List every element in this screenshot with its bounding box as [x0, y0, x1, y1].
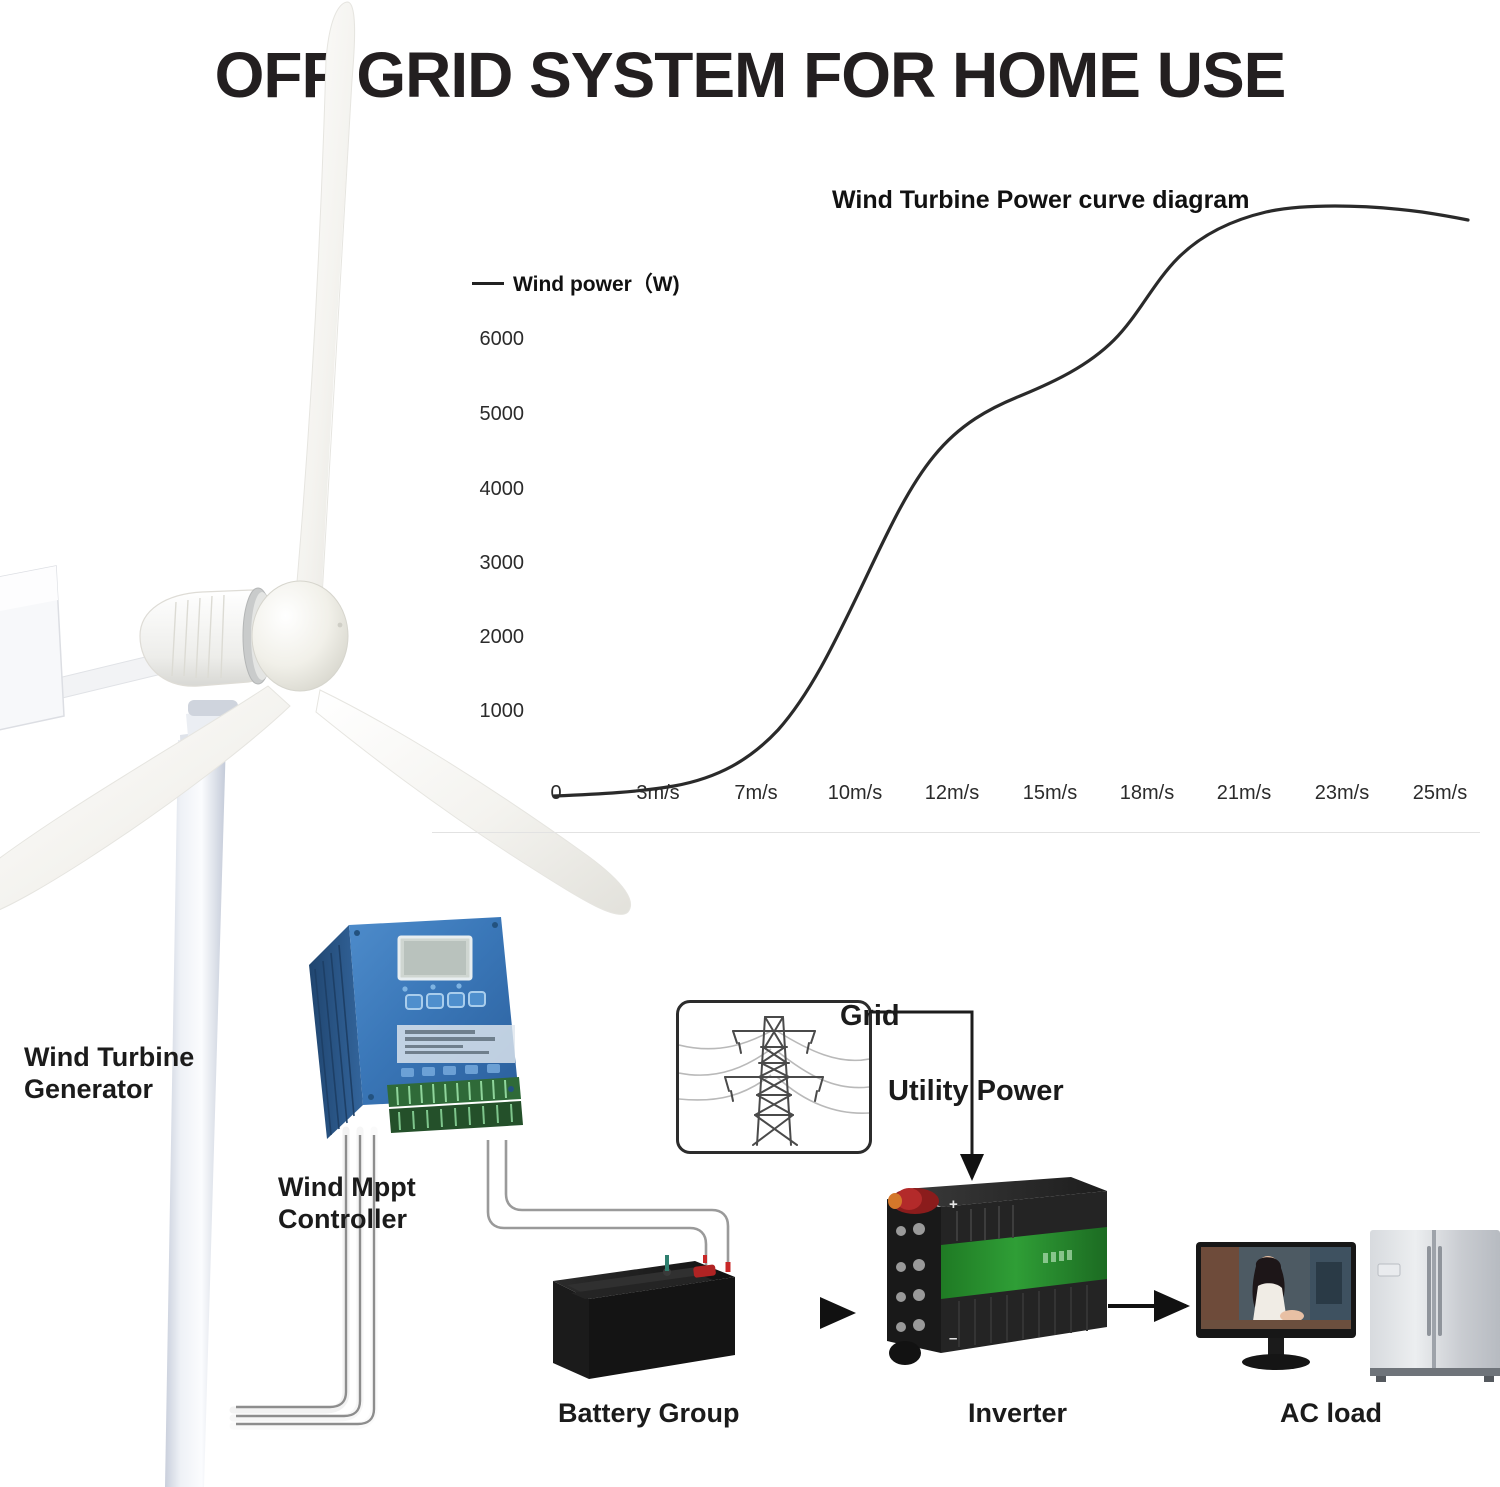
x-tick-7ms: 7m/s	[734, 782, 777, 805]
mppt-controller-device	[305, 913, 555, 1153]
x-tick-0: 0	[550, 782, 561, 805]
x-tick-12ms: 12m/s	[925, 782, 979, 805]
label-grid: Grid	[840, 1000, 900, 1034]
chart-plot-area	[542, 160, 1480, 810]
x-tick-10ms: 10m/s	[828, 782, 882, 805]
label-wind-turbine-generator: Wind Turbine Generator	[24, 1042, 194, 1105]
chart-bottom-border	[432, 832, 1480, 833]
label-battery-group: Battery Group	[558, 1398, 740, 1430]
refrigerator-device	[1370, 1230, 1500, 1382]
x-tick-18ms: 18m/s	[1120, 782, 1174, 805]
y-tick-2000: 2000	[480, 626, 525, 649]
svg-text:–: –	[949, 1330, 957, 1347]
x-tick-3ms: 3m/s	[636, 782, 679, 805]
x-tick-23ms: 23m/s	[1315, 782, 1369, 805]
y-axis-tick-labels: 6000 5000 4000 3000 2000 1000	[432, 160, 524, 832]
y-tick-6000: 6000	[480, 328, 525, 351]
x-tick-21ms: 21m/s	[1217, 782, 1271, 805]
y-tick-5000: 5000	[480, 403, 525, 426]
label-wind-mppt-controller: Wind Mppt Controller	[278, 1172, 416, 1235]
svg-text:+: +	[949, 1196, 958, 1213]
battery-group-device	[545, 1255, 740, 1383]
inverter-device: + –	[875, 1175, 1110, 1375]
label-inverter: Inverter	[968, 1398, 1067, 1430]
label-ac-load: AC load	[1280, 1398, 1382, 1430]
x-tick-15ms: 15m/s	[1023, 782, 1077, 805]
x-tick-25ms: 25m/s	[1413, 782, 1467, 805]
label-utility-power: Utility Power	[888, 1075, 1064, 1109]
y-tick-4000: 4000	[480, 478, 525, 501]
tv-monitor-device	[1196, 1242, 1356, 1372]
wind-power-curve-chart: Wind Turbine Power curve diagram Wind po…	[432, 160, 1480, 832]
y-tick-1000: 1000	[480, 700, 525, 723]
y-tick-3000: 3000	[480, 552, 525, 575]
wind-power-curve-line	[554, 206, 1468, 796]
x-axis-tick-labels: 0 3m/s 7m/s 10m/s 12m/s 15m/s 18m/s 21m/…	[542, 782, 1480, 822]
